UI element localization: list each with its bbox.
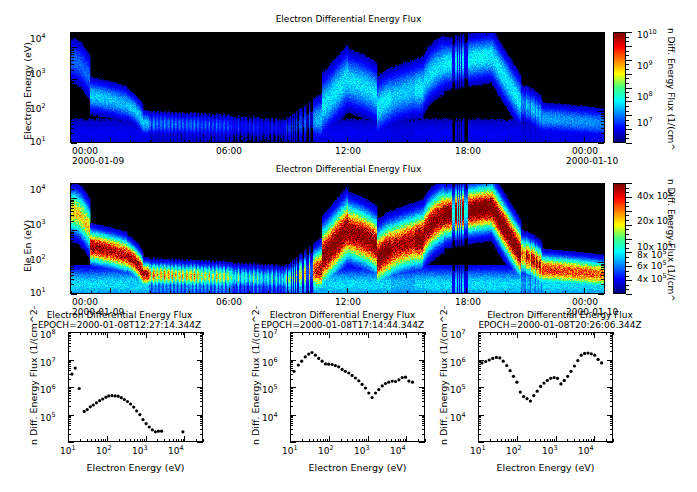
tick-mark [626,188,629,189]
tick-mark [626,69,629,70]
tick-mark [425,332,426,335]
panel5-plot-area [478,332,613,442]
tick-mark [626,37,629,38]
tick-mark [626,115,632,116]
tick-mark [626,55,629,56]
panel2-colorbar-label: n Diff. Energy Flux (1/(cm^ [666,179,676,302]
tick-mark [626,215,629,216]
tick-mark [626,276,629,277]
tick-mark [626,220,629,221]
tick-mark [626,225,632,226]
tick-mark [626,125,629,126]
panel3-subtitle: EPOCH=2000-01-08T12:27:14.344Z [32,320,207,330]
tick-mark [626,266,632,267]
tick-mark [626,289,629,290]
tick-mark [626,32,632,33]
tick-mark [626,60,632,61]
tick-mark [626,106,629,107]
tick-mark [626,88,632,89]
panel2-spectrogram-image [71,184,604,293]
tick-mark [626,46,632,47]
panel4-ylabel: n Diff. Energy Flux (1/(cm^2- [250,306,261,445]
tick-mark [626,271,629,272]
tick-mark [626,51,629,52]
panel5-title: Electron Differential Energy Flux [470,310,650,320]
panel3-plot-area [68,332,203,442]
tick-mark [626,229,629,230]
panel1-colorbar [613,32,626,143]
tick-mark [626,138,629,139]
tick-mark [626,211,632,212]
panel2-colorbar-gradient [614,184,625,293]
tick-mark [626,252,632,253]
panel5-ylabel: n Diff. Energy Flux (1/(cm^2- [438,306,449,445]
panel2-colorbar [613,183,626,294]
tick-mark [626,248,629,249]
tick-mark [626,206,629,207]
tick-mark [626,285,629,286]
tick-mark [626,101,632,102]
panel4-subtitle: EPOCH=2000-01-08T17:14:44.344Z [255,320,430,330]
tick-mark [419,442,425,443]
tick-mark [626,111,629,112]
tick-mark [478,442,484,443]
panel1-ylabel: Electron Energy (eV) [22,42,33,140]
panel2-ylabel: Ele En (eV) [22,220,33,272]
panel4-scatter-points [291,333,424,441]
tick-mark [626,202,629,203]
panel2-plot-area [70,183,605,294]
tick-mark [613,439,614,442]
panel3-scatter-points [69,333,202,441]
panel4-xlabel: Electron Energy (eV) [290,462,425,473]
tick-mark [613,332,614,335]
tick-mark [598,294,604,295]
panel1-spectrogram-image [71,33,604,142]
tick-mark [626,134,629,135]
panel3-xlabel: Electron Energy (eV) [68,462,203,473]
tick-mark [607,442,613,443]
panel5-xlabel: Electron Energy (eV) [478,462,613,473]
panel5-subtitle: EPOCH=2000-01-08T20:26:06.344Z [470,320,650,330]
tick-mark [626,97,629,98]
tick-mark [626,92,629,93]
tick-mark [71,294,77,295]
tick-mark [626,197,632,198]
panel2-title: Electron Differential Energy Flux [0,164,697,174]
panel1-colorbar-label: n Diff. Energy Flux (1/(cm^ [666,28,676,151]
tick-mark [425,439,426,442]
panel5-scatter-points [479,333,612,441]
tick-mark [626,120,629,121]
tick-mark [626,129,632,130]
tick-mark [203,332,204,335]
tick-mark [626,143,632,144]
tick-mark [626,294,632,295]
tick-mark [68,442,74,443]
panel3-ylabel: n Diff. Energy Flux (1/(cm^2- [28,306,39,445]
tick-mark [626,243,629,244]
tick-mark [197,442,203,443]
tick-mark [626,83,629,84]
tick-mark [203,439,204,442]
tick-mark [626,74,632,75]
tick-mark [626,183,632,184]
tick-mark [626,192,629,193]
panel4-title: Electron Differential Energy Flux [255,310,430,320]
tick-mark [626,280,632,281]
tick-mark [71,143,77,144]
panel1-colorbar-gradient [614,33,625,142]
tick-mark [598,143,604,144]
panel1-plot-area [70,32,605,143]
tick-mark [626,262,629,263]
panel3-title: Electron Differential Energy Flux [32,310,207,320]
tick-mark [626,234,629,235]
tick-mark [626,41,629,42]
tick-mark [626,78,629,79]
tick-mark [290,442,296,443]
tick-mark [626,239,632,240]
panel1-title: Electron Differential Energy Flux [0,14,697,24]
panel4-plot-area [290,332,425,442]
tick-mark [626,257,629,258]
tick-mark [626,64,629,65]
